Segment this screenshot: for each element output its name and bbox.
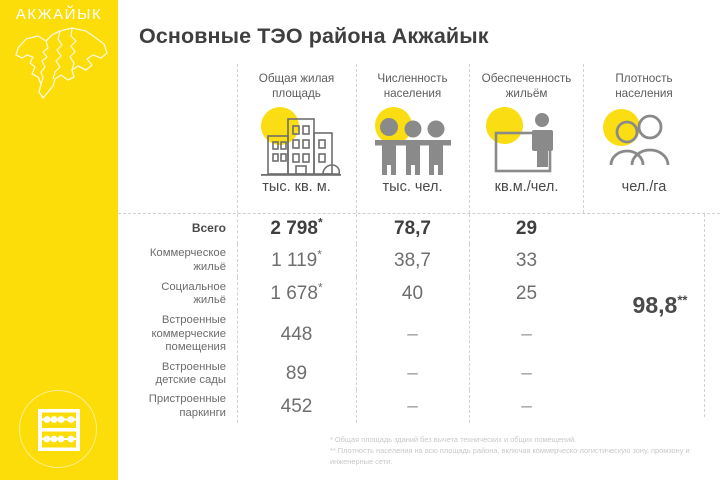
cell-divider <box>356 390 357 423</box>
teo-table: Общая жилаяплощадь <box>118 64 720 423</box>
cell-divider <box>237 390 238 423</box>
cell-value: – <box>407 363 418 385</box>
infographic-page: АКЖАЙЫК <box>0 0 720 480</box>
cell-divider <box>237 311 238 358</box>
table-body: 98,8** Всего 2 798* 78,7 29 <box>118 214 720 423</box>
row-label: Всего <box>118 222 237 236</box>
cell-value: 78,7 <box>394 218 431 240</box>
cell-value: 1 678* <box>270 283 322 305</box>
table-row: Коммерческоежильё 1 119* 38,7 33 <box>118 244 720 277</box>
two-people-outline-icon <box>602 111 688 177</box>
footnote-double-asterisk: ** Плотность населения на всю площадь ра… <box>330 445 710 467</box>
table-row: Социальноежильё 1 678* 40 25 <box>118 277 720 311</box>
cell-provision: – <box>469 358 584 390</box>
column-header-density: Плотностьнаселения чел./га <box>584 64 704 213</box>
district-map-outline-icon <box>8 22 112 102</box>
table-header-row: Общая жилаяплощадь <box>237 64 720 213</box>
cell-value: 38,7 <box>394 250 431 272</box>
cell-divider <box>469 244 470 277</box>
cell-value: – <box>521 396 532 418</box>
table-row: Пристроенныепаркинги 452 – – <box>118 390 720 423</box>
column-header-population: Численностьнаселения <box>356 64 469 213</box>
cell-population: – <box>356 390 469 423</box>
cell-value: 33 <box>516 250 537 272</box>
column-unit: чел./га <box>622 179 667 195</box>
row-label: Встроенныедетские сады <box>118 361 237 388</box>
abacus-icon <box>36 408 82 452</box>
person-in-frame-icon <box>482 109 572 179</box>
table-row: Всего 2 798* 78,7 29 <box>118 214 720 244</box>
cell-total-area: 1 678* <box>237 277 356 311</box>
column-label: Общая жилаяплощадь <box>259 72 334 101</box>
cell-provision: – <box>469 390 584 423</box>
cell-value: 89 <box>286 363 307 385</box>
cell-value: 1 119* <box>271 250 322 272</box>
cell-provision: 29 <box>469 214 584 244</box>
cell-value: 25 <box>516 283 537 305</box>
cell-divider <box>356 311 357 358</box>
column-label: Плотностьнаселения <box>615 72 673 101</box>
footnote-single-asterisk: * Общая площадь зданий без вычета технич… <box>330 434 710 445</box>
column-header-total-area: Общая жилаяплощадь <box>237 64 356 213</box>
abacus-badge <box>19 390 97 468</box>
cell-value: – <box>521 363 532 385</box>
two-people-outline-icon-box <box>584 103 704 177</box>
buildings-icon <box>251 109 343 181</box>
cell-total-area: 448 <box>237 311 356 358</box>
cell-divider <box>356 358 357 390</box>
cell-divider <box>237 214 238 244</box>
column-unit: тыс. кв. м. <box>262 179 330 195</box>
cell-provision: 33 <box>469 244 584 277</box>
cell-divider <box>469 311 470 358</box>
cell-value: 2 798* <box>270 218 322 240</box>
cell-total-area: 1 119* <box>237 244 356 277</box>
cell-divider <box>356 214 357 244</box>
cell-value: 452 <box>281 396 313 418</box>
cell-value: – <box>407 324 418 346</box>
cell-value: – <box>521 324 532 346</box>
cell-divider <box>237 358 238 390</box>
cell-divider <box>237 277 238 311</box>
column-unit: кв.м./чел. <box>495 179 559 195</box>
row-label: Пристроенныепаркинги <box>118 393 237 420</box>
cell-divider <box>469 390 470 423</box>
cell-divider <box>469 277 470 311</box>
cell-value: 40 <box>402 283 423 305</box>
three-people-icon <box>369 115 457 185</box>
column-header-provision: Обеспеченностьжильём кв.м./чел. <box>469 64 584 213</box>
table-row: Встроенныедетские сады 89 – – <box>118 358 720 390</box>
person-in-frame-icon-box <box>469 103 584 177</box>
cell-population: 40 <box>356 277 469 311</box>
page-title: Основные ТЭО района Акжайык <box>139 24 489 49</box>
cell-total-area: 452 <box>237 390 356 423</box>
cell-population: 78,7 <box>356 214 469 244</box>
cell-population: 38,7 <box>356 244 469 277</box>
cell-total-area: 89 <box>237 358 356 390</box>
cell-population: – <box>356 358 469 390</box>
brand-name: АКЖАЙЫК <box>0 6 118 23</box>
table-row: Встроенныекоммерческиепомещения 448 – – <box>118 311 720 358</box>
column-label: Численностьнаселения <box>377 72 447 101</box>
cell-total-area: 2 798* <box>237 214 356 244</box>
cell-provision: – <box>469 311 584 358</box>
column-label: Обеспеченностьжильём <box>482 72 572 101</box>
cell-divider <box>356 277 357 311</box>
cell-population: – <box>356 311 469 358</box>
row-label: Встроенныекоммерческиепомещения <box>118 314 237 355</box>
cell-divider <box>356 244 357 277</box>
cell-value: 448 <box>281 324 313 346</box>
row-label: Коммерческоежильё <box>118 247 237 274</box>
cell-divider <box>237 244 238 277</box>
row-label: Социальноежильё <box>118 281 237 308</box>
cell-divider <box>469 358 470 390</box>
cell-divider <box>469 214 470 244</box>
cell-value: – <box>407 396 418 418</box>
buildings-icon-box <box>237 103 356 177</box>
footnotes: * Общая площадь зданий без вычета технич… <box>330 434 710 467</box>
cell-provision: 25 <box>469 277 584 311</box>
cell-value: 29 <box>516 218 537 240</box>
brand-sidebar: АКЖАЙЫК <box>0 0 118 480</box>
three-people-icon-box <box>356 103 469 177</box>
